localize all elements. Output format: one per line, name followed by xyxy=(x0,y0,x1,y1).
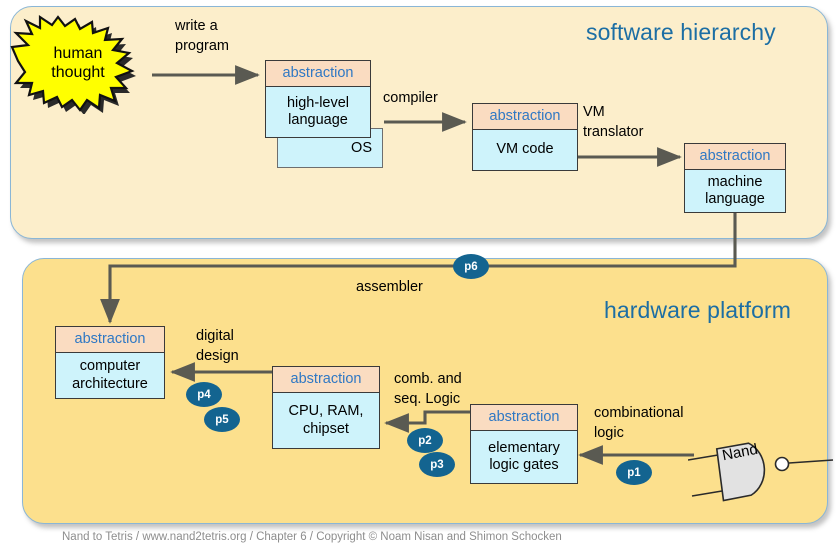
node-computer-architecture: abstraction computer architecture xyxy=(55,326,165,399)
node-computer-architecture-label: computer architecture xyxy=(56,353,164,398)
node-vm-code-label: VM code xyxy=(473,130,577,170)
node-elementary-logic-gates: abstraction elementary logic gates xyxy=(470,404,578,484)
node-cpu-ram-chipset: abstraction CPU, RAM, chipset xyxy=(272,366,380,449)
human-thought-label: human thought xyxy=(8,12,148,114)
edge-label-assembler: assembler xyxy=(356,278,423,298)
node-computer-architecture-header: abstraction xyxy=(56,327,164,353)
node-cpu-ram-chipset-label: CPU, RAM, chipset xyxy=(273,393,379,448)
edge-label-compiler: compiler xyxy=(383,89,438,109)
node-elementary-logic-gates-label: elementary logic gates xyxy=(471,431,577,483)
node-machine-language: abstraction machine language xyxy=(684,143,786,213)
badge-p4[interactable]: p4 xyxy=(186,382,222,407)
edge-label-combinational-logic: combinational logic xyxy=(594,404,683,443)
node-elementary-logic-gates-header: abstraction xyxy=(471,405,577,431)
footer-credit: Nand to Tetris / www.nand2tetris.org / C… xyxy=(62,531,562,543)
panel-title-hardware-platform: hardware platform xyxy=(604,297,791,324)
node-cpu-ram-chipset-header: abstraction xyxy=(273,367,379,393)
node-os-label: OS xyxy=(351,140,372,156)
badge-p5[interactable]: p5 xyxy=(204,407,240,432)
node-high-level-language-label: high-level language xyxy=(266,87,370,137)
diagram-canvas: software hierarchy hardware platform xyxy=(0,0,838,548)
node-machine-language-label: machine language xyxy=(685,170,785,212)
edge-label-digital-design: digital design xyxy=(196,327,239,366)
badge-p2[interactable]: p2 xyxy=(407,428,443,453)
node-high-level-language-header: abstraction xyxy=(266,61,370,87)
nand-gate-symbol xyxy=(688,424,838,506)
node-machine-language-header: abstraction xyxy=(685,144,785,170)
panel-title-software-hierarchy: software hierarchy xyxy=(586,19,776,46)
badge-p3[interactable]: p3 xyxy=(419,452,455,477)
badge-p6[interactable]: p6 xyxy=(453,254,489,279)
edge-label-write-a-program: write a program xyxy=(175,17,229,56)
node-vm-code: abstraction VM code xyxy=(472,103,578,171)
edge-label-comb-and-seq-logic: comb. and seq. Logic xyxy=(394,370,462,409)
badge-p1[interactable]: p1 xyxy=(616,460,652,485)
node-vm-code-header: abstraction xyxy=(473,104,577,130)
edge-label-vm-translator: VM translator xyxy=(583,103,643,142)
node-high-level-language: abstraction high-level language xyxy=(265,60,371,138)
